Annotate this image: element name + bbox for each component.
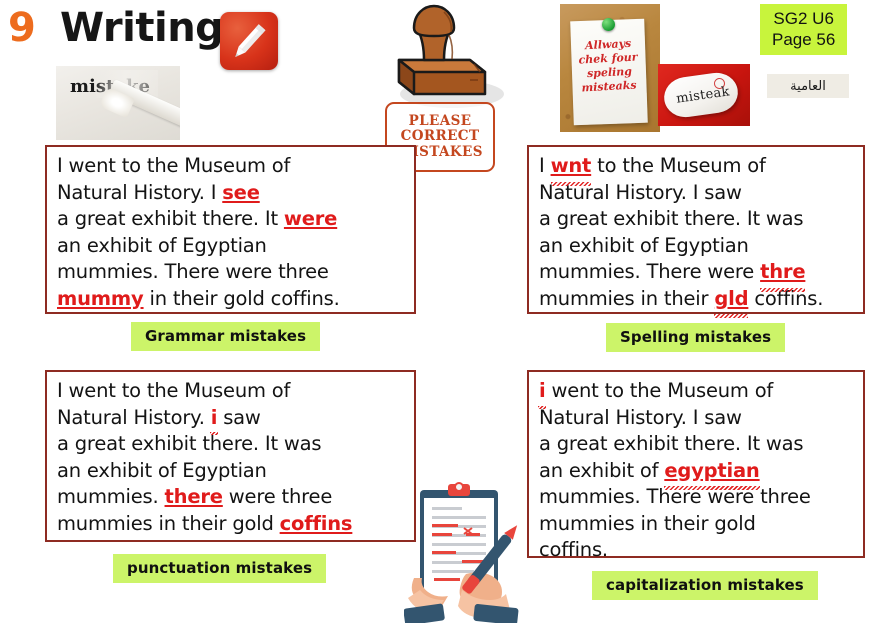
- pushpin-icon: [602, 18, 615, 31]
- badge-line-2: Page 56: [772, 29, 835, 50]
- worksheet-header: 9 Writing mistake: [0, 0, 872, 140]
- error-word: there: [165, 485, 223, 508]
- error-word: i: [211, 405, 217, 432]
- error-word: mummy: [57, 287, 144, 310]
- misteak-eraser-image: misteak: [658, 64, 750, 126]
- badge-line-1: SG2 U6: [772, 8, 835, 29]
- label-spelling-mistakes: Spelling mistakes: [606, 323, 785, 352]
- stamp-line-2: CORRECT: [401, 129, 480, 144]
- cork-board-note-image: Allways chek four speling misteaks: [560, 4, 660, 132]
- stamp-line-1: PLEASE: [409, 114, 472, 129]
- error-word: egyptian: [664, 458, 759, 485]
- paragraph-spelling: I wnt to the Museum of Natural History. …: [539, 153, 855, 312]
- text-box-grammar: I went to the Museum of Natural History.…: [45, 145, 416, 314]
- page-title: Writing: [60, 6, 223, 50]
- paragraph-punctuation: I went to the Museum of Natural History.…: [57, 378, 406, 537]
- error-word: thre: [760, 259, 805, 286]
- error-word: wnt: [551, 153, 592, 180]
- paragraph-grammar: I went to the Museum of Natural History.…: [57, 153, 406, 312]
- error-word: see: [222, 181, 259, 204]
- error-word: gld: [714, 286, 748, 313]
- mistake-eraser-photo: mistake: [56, 66, 180, 140]
- label-capitalization-mistakes: capitalization mistakes: [592, 571, 818, 600]
- pencil-icon: [220, 12, 278, 70]
- label-grammar-mistakes: Grammar mistakes: [131, 322, 320, 351]
- page-reference-badge: SG2 U6 Page 56: [760, 4, 847, 55]
- hands-correcting-clipboard-illustration: [404, 466, 528, 623]
- error-word: i: [539, 378, 545, 405]
- error-word: were: [284, 207, 337, 230]
- text-box-spelling: I wnt to the Museum of Natural History. …: [527, 145, 865, 314]
- arabic-annotation: العامية: [767, 74, 849, 98]
- label-punctuation-mistakes: punctuation mistakes: [113, 554, 326, 583]
- unit-number: 9: [8, 8, 36, 48]
- text-box-capitalization: i went to the Museum of Natural History.…: [527, 370, 865, 558]
- text-box-punctuation: I went to the Museum of Natural History.…: [45, 370, 416, 542]
- error-word: coffins: [280, 512, 353, 535]
- cork-note-line-4: misteaks: [582, 79, 638, 96]
- sticky-note-paper: Allways chek four speling misteaks: [570, 19, 648, 126]
- paragraph-capitalization: i went to the Museum of Natural History.…: [539, 378, 855, 564]
